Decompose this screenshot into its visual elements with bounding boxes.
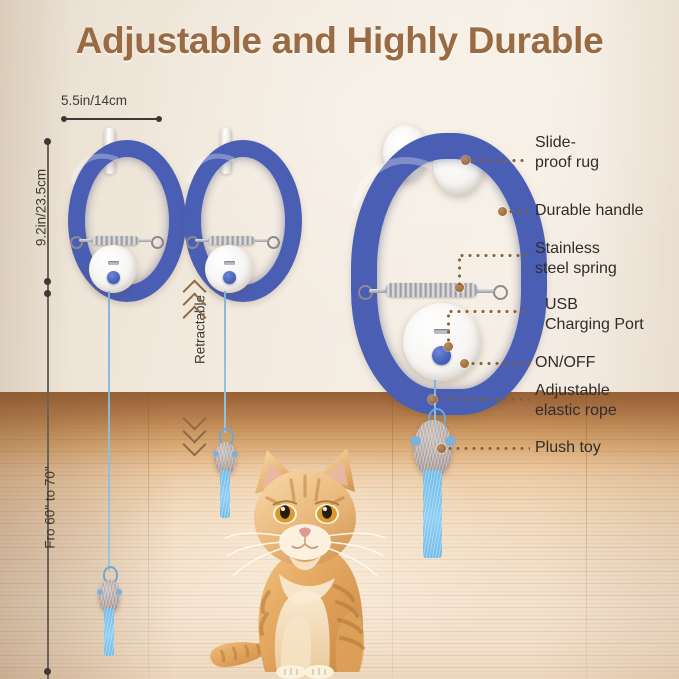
callout-durable-handle: Durable handle [535, 201, 644, 221]
control-pod [205, 245, 253, 293]
callout-line: elastic rope [535, 401, 617, 421]
callout-line: Charging Port [545, 315, 644, 335]
measure-endpoint-dot [44, 290, 51, 297]
product-device-middle [176, 128, 291, 288]
plush-ear [410, 436, 421, 446]
callout-marker-on-off [460, 359, 469, 368]
stainless-steel-spring [208, 236, 255, 245]
elastic-rope [224, 291, 226, 433]
power-button-icon[interactable] [107, 271, 120, 284]
plush-ear [445, 436, 456, 446]
spring-eye [70, 236, 83, 249]
range-measurement-label: Fro 60" to 70" [43, 438, 58, 578]
callout-marker-slide-proof-rug [461, 156, 470, 165]
callout-usb-charging-port: USB Charging Port [545, 295, 644, 334]
callout-line: USB [545, 295, 644, 315]
callout-leader-plush-toy [446, 447, 530, 450]
page-title: Adjustable and Highly Durable [0, 20, 679, 62]
product-device-left [60, 128, 175, 288]
callout-line: Slide- [535, 133, 599, 153]
spring-eye [186, 236, 199, 249]
callout-marker-durable-handle [498, 207, 507, 216]
spring-eye [493, 285, 508, 300]
toy-tassel [423, 470, 442, 558]
callout-leader-usb-charging-port [447, 310, 530, 313]
usb-port-icon[interactable] [224, 261, 235, 265]
control-pod [89, 245, 137, 293]
spring-eye [151, 236, 164, 249]
measure-endpoint-dot [44, 668, 51, 675]
callout-leader-stainless-steel-spring [458, 254, 530, 257]
callout-leader-slide-proof-rug [470, 159, 527, 162]
elastic-rope [108, 291, 110, 571]
callout-line: Durable handle [535, 201, 644, 221]
cat-photo [205, 436, 405, 679]
plush-ear [97, 589, 103, 595]
spring-eye [358, 285, 373, 300]
spring-rod [254, 239, 268, 242]
spring-rod [195, 239, 209, 242]
callout-adjustable-elastic-rope: Adjustable elastic rope [535, 381, 617, 420]
product-device-main [345, 125, 530, 390]
height-measurement-label: 9.2in/23.5cm [34, 143, 49, 273]
callout-leader-on-off [469, 362, 531, 365]
spring-rod [79, 239, 93, 242]
callout-line: Adjustable [535, 381, 617, 401]
power-button-icon[interactable] [223, 271, 236, 284]
callout-stainless-steel-spring: Stainless steel spring [535, 239, 617, 278]
width-measurement-line [62, 118, 161, 120]
spring-eye [267, 236, 280, 249]
callout-line: ON/OFF [535, 353, 595, 373]
callout-marker-plush-toy [437, 444, 446, 453]
callout-leader-adjustable-elastic-rope [437, 398, 530, 401]
callout-leader-vertical [447, 312, 450, 344]
spring-rod [476, 289, 494, 293]
spring-rod [369, 289, 387, 293]
callout-on-off: ON/OFF [535, 353, 595, 373]
callout-marker-adjustable-elastic-rope [428, 395, 437, 404]
callout-line: Plush toy [535, 438, 601, 458]
infographic-canvas: Adjustable and Highly Durable 5.5in/14cm… [0, 0, 679, 679]
width-measurement-label: 5.5in/14cm [61, 93, 127, 108]
toy-tassel [104, 608, 114, 656]
callout-plush-toy: Plush toy [535, 438, 601, 458]
usb-port-icon[interactable] [108, 261, 119, 265]
callout-line: proof rug [535, 153, 599, 173]
measure-endpoint-dot [44, 278, 51, 285]
stainless-steel-spring [92, 236, 139, 245]
control-pod [403, 303, 481, 381]
callout-leader-vertical [458, 256, 461, 285]
callout-leader-durable-handle [507, 210, 529, 213]
callout-slide-proof-rug: Slide- proof rug [535, 133, 599, 172]
callout-line: steel spring [535, 259, 617, 279]
spring-rod [138, 239, 152, 242]
callout-line: Stainless [535, 239, 617, 259]
plush-ear [116, 589, 122, 595]
